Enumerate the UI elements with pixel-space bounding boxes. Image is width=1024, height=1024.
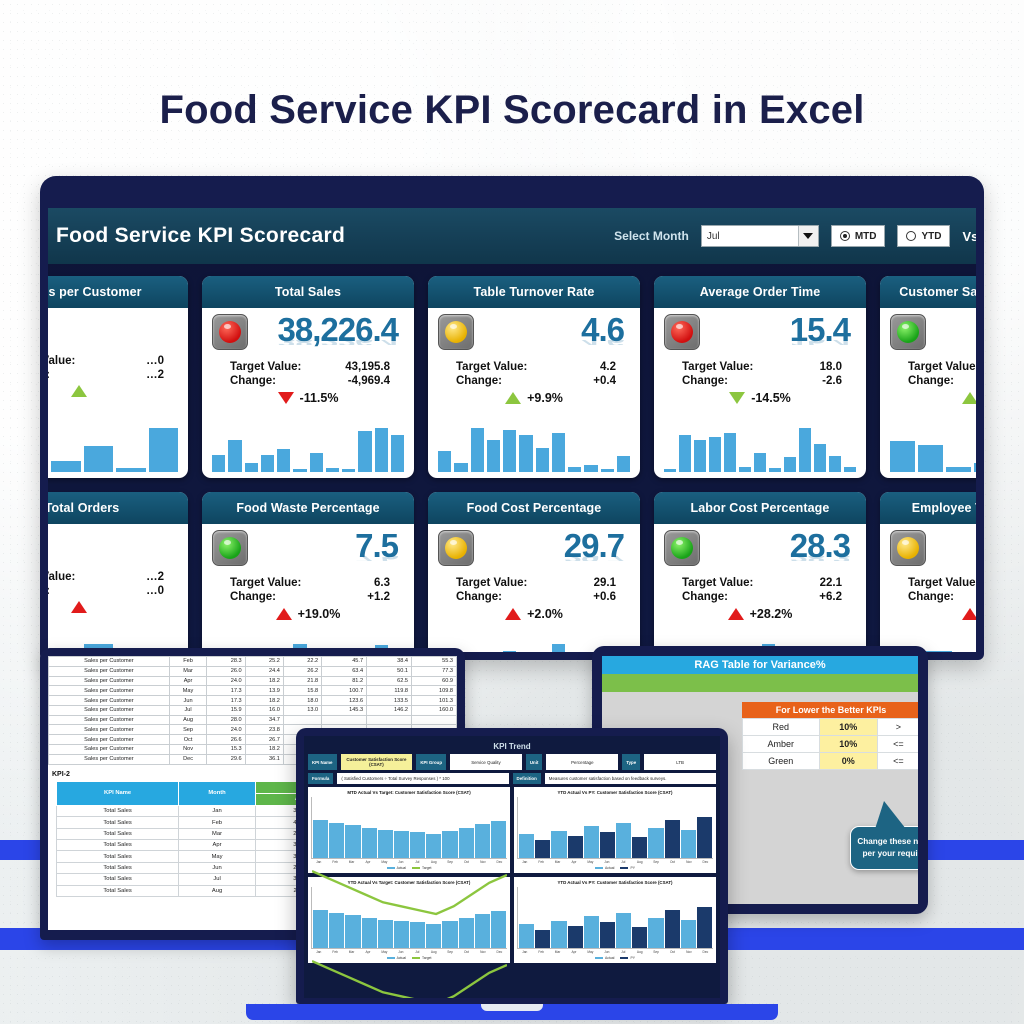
cell-c2: 26.7 — [245, 735, 283, 745]
cell-kpi: Sales per Customer — [49, 657, 170, 667]
radio-on-icon — [840, 231, 850, 241]
kpi-change-label: Change: — [456, 591, 502, 603]
kpi-value-reflection — [48, 525, 178, 530]
kpi-sparkline-chart — [890, 424, 976, 472]
cell-kpi: Sales per Customer — [49, 745, 170, 755]
kpi-card-title: Customer Satisfaction Score — [880, 276, 976, 308]
cell-c6: 160.0 — [412, 705, 457, 715]
cell-c2: 23.8 — [245, 725, 283, 735]
trend-chart-caption: YTD Actual Vs PY: Customer Satisfaction … — [517, 790, 713, 795]
cell-kpi: Sales per Customer — [49, 676, 170, 686]
table-row: Sales per Customer Mar 26.0 24.4 26.2 63… — [49, 666, 457, 676]
kpi-target-label: Target Value: — [456, 361, 527, 373]
legend-series-2: PY — [620, 956, 635, 960]
cell-c2: 25.2 — [245, 657, 283, 667]
kpi-target-row: Target Value: …2 — [48, 570, 178, 584]
kpi-card: Employee Turnover Rate 5. 5. Target Valu… — [880, 492, 976, 652]
kpi-delta-percent: +2.0% — [527, 607, 563, 621]
cell-month: Mar — [178, 828, 255, 839]
cell-c3: 21.8 — [283, 676, 321, 686]
kpi-card-body: Target Value: …2 Change: …0 — [48, 524, 188, 652]
field-value-unit: Percentage — [546, 754, 618, 770]
kpi-target-label: Target Value: — [682, 577, 753, 589]
kpi-target-label: Target Value: — [48, 355, 75, 367]
cell-kpi: Sales per Customer — [49, 715, 170, 725]
month-tick: Dec — [698, 860, 713, 864]
rag-band: Amber — [743, 736, 820, 753]
trend-down-arrow-icon — [278, 392, 294, 404]
cell-c3: 22.2 — [283, 657, 321, 667]
kpi-target-label: Target Value: — [908, 577, 976, 589]
rag-table-header: For Lower the Better KPIs — [742, 702, 918, 718]
legend-series-2: PY — [620, 866, 635, 870]
kpi-sparkline-chart — [438, 424, 630, 472]
kpi-card: Total Sales 38,226.4 38,226.4 Target Val… — [202, 276, 414, 478]
kpi-dashboard: Food Service KPI Scorecard Select Month … — [48, 208, 976, 652]
cell-c4: 145.3 — [322, 705, 367, 715]
kpi-value-reflection: 5. — [932, 556, 976, 561]
radio-off-icon — [906, 231, 916, 241]
cell-c2: 34.7 — [245, 715, 283, 725]
main-laptop-screen: Food Service KPI Scorecard Select Month … — [48, 208, 976, 652]
trend-up-arrow-icon — [71, 601, 87, 613]
cell-c3: 15.8 — [283, 686, 321, 696]
cell-c2: 18.2 — [245, 676, 283, 686]
kpi-sparkline-chart — [212, 424, 404, 472]
month-tick: Sep — [648, 860, 663, 864]
kpi-value-reflection: 7.5 — [254, 556, 404, 561]
table-row: Sales per Customer Jul 15.9 16.0 13.0 14… — [49, 705, 457, 715]
month-tick: Feb — [533, 950, 548, 954]
mtd-radio[interactable]: MTD — [831, 225, 886, 247]
cell-kpi-name: Total Sales — [57, 828, 179, 839]
cell-month: Jul — [169, 705, 207, 715]
cell-month: Oct — [169, 735, 207, 745]
cell-c1: 24.0 — [207, 676, 245, 686]
kpi-card-body: 15.4 15.4 Target Value: 18.0 Change: -2.… — [654, 308, 866, 478]
kpi-change-label: Change: — [48, 369, 50, 381]
trend-chart: YTD Actual Vs Target: Customer Satisfact… — [308, 877, 510, 963]
kpi-card-body: 28.3 28.3 Target Value: 22.1 Change: +6.… — [654, 524, 866, 652]
cell-c1: 17.3 — [207, 696, 245, 706]
kpi-field-row-1: KPI Name Customer Satisfaction Score (CS… — [308, 754, 716, 770]
kpi-target-row: Target Value: 43,195.8 — [212, 360, 404, 374]
cell-c2: 36.1 — [245, 754, 283, 764]
trend-up-arrow-icon — [71, 385, 87, 397]
kpi-target-value: 18.0 — [784, 361, 842, 373]
cell-month: Apr — [178, 840, 255, 851]
month-tick: Jul — [616, 950, 631, 954]
kpi-change-value: +6.2 — [784, 591, 842, 603]
cell-month: Aug — [178, 885, 255, 896]
legend-actual: Actual — [595, 866, 614, 870]
kpi-target-row: Target Value: — [890, 360, 976, 374]
kpi-card: Average Order Time 15.4 15.4 Target Valu… — [654, 276, 866, 478]
ytd-radio[interactable]: YTD — [897, 225, 950, 247]
month-tick: May — [583, 950, 598, 954]
cell-c1: 28.3 — [207, 657, 245, 667]
month-axis: JanFebMarAprMayJunJulAugSepOctNovDec — [517, 860, 713, 864]
cell-c5: 62.5 — [367, 676, 412, 686]
cell-month: Jan — [178, 805, 255, 816]
mtd-label: MTD — [855, 231, 877, 242]
kpi-target-value: 4.2 — [558, 361, 616, 373]
trend-plot-area — [517, 887, 713, 949]
cell-c6 — [412, 715, 457, 725]
main-laptop-frame: Food Service KPI Scorecard Select Month … — [40, 176, 984, 660]
cell-c4: 123.6 — [322, 696, 367, 706]
trend-up-arrow-icon — [962, 608, 976, 620]
kpi-card: Table Turnover Rate 4.6 4.6 Target Value… — [428, 276, 640, 478]
trend-up-arrow-icon — [962, 392, 976, 404]
center-laptop-screen: KPI Trend KPI Name Customer Satisfaction… — [304, 736, 720, 998]
trend-chart-grid: MTD Actual Vs Target: Customer Satisfact… — [308, 787, 716, 963]
callout-bubble: Change these number as per your requirem… — [850, 826, 918, 870]
kpi-delta-row — [48, 385, 178, 397]
kpi-change-value: +0.6 — [558, 591, 616, 603]
month-tick: Jan — [517, 860, 532, 864]
trend-plot-area — [311, 887, 507, 949]
center-laptop-base — [246, 1004, 778, 1020]
kpi-target-value: 43,195.8 — [332, 361, 390, 373]
kpi-target-value: 29.1 — [558, 577, 616, 589]
kpi-target-row: Target Value: — [890, 576, 976, 590]
cell-c4: 81.2 — [322, 676, 367, 686]
kpi-change-row: Change: +0.6 — [438, 590, 630, 604]
kpi-target-label: Target Value: — [48, 571, 75, 583]
kpi-value-reflection: 77 — [932, 340, 976, 345]
kpi-value-reflection: 38,226.4 — [254, 340, 404, 345]
kpi-card-title: Food Waste Percentage — [202, 492, 414, 524]
cell-c1: 26.6 — [207, 735, 245, 745]
cell-kpi: Sales per Customer — [49, 705, 170, 715]
month-tick: May — [583, 860, 598, 864]
month-tick: Feb — [533, 860, 548, 864]
cell-kpi: Sales per Customer — [49, 725, 170, 735]
trend-chart: MTD Actual Vs Target: Customer Satisfact… — [308, 787, 510, 873]
cell-kpi: Sales per Customer — [49, 686, 170, 696]
cell-month: Sep — [169, 725, 207, 735]
cell-c3: 18.0 — [283, 696, 321, 706]
trend-up-arrow-icon — [505, 608, 521, 620]
cell-month: Jun — [169, 696, 207, 706]
kpi-change-label: Change: — [456, 375, 502, 387]
table-row: Sales per Customer May 17.3 13.9 15.8 10… — [49, 686, 457, 696]
cell-c4: 63.4 — [322, 666, 367, 676]
kpi-sparkline-chart — [48, 424, 178, 472]
trend-up-arrow-icon — [505, 392, 521, 404]
cell-c4: 45.7 — [322, 657, 367, 667]
cell-month: Apr — [169, 676, 207, 686]
cell-c2: 16.0 — [245, 705, 283, 715]
month-select-value: Jul — [707, 231, 720, 242]
kpi-card-body: Target Value: …0 Change: …2 — [48, 308, 188, 478]
cell-c4 — [322, 715, 367, 725]
kpi-target-row: Target Value: 22.1 — [664, 576, 856, 590]
kpi-change-value: +0.4 — [558, 375, 616, 387]
cell-kpi-name: Total Sales — [57, 817, 179, 828]
kpi-card-title: Food Cost Percentage — [428, 492, 640, 524]
cell-c6: 101.3 — [412, 696, 457, 706]
trend-chart: YTD Actual Vs PY: Customer Satisfaction … — [514, 877, 716, 963]
cell-c5: 146.2 — [367, 705, 412, 715]
kpi-card: Food Cost Percentage 29.7 29.7 Target Va… — [428, 492, 640, 652]
month-tick: Apr — [566, 860, 581, 864]
month-tick: Oct — [665, 950, 680, 954]
cell-c6: 77.3 — [412, 666, 457, 676]
status-light-amber-icon — [438, 314, 474, 350]
kpi-target-label: Target Value: — [682, 361, 753, 373]
kpi-change-label: Change: — [230, 591, 276, 603]
cell-kpi-name: Total Sales — [57, 885, 179, 896]
kpi-card-body: 29.7 29.7 Target Value: 29.1 Change: +0.… — [428, 524, 640, 652]
month-tick: Dec — [698, 950, 713, 954]
kpi-delta-row: +2… — [890, 391, 976, 405]
cell-c5: 50.1 — [367, 666, 412, 676]
kpi-change-row: Change: — [890, 374, 976, 388]
status-light-amber-icon — [890, 530, 926, 566]
cell-kpi-name: Total Sales — [57, 840, 179, 851]
month-tick: Oct — [665, 860, 680, 864]
kpi-delta-row: +28.2% — [664, 607, 856, 621]
month-tick: Jan — [517, 950, 532, 954]
kpi-card-title: Sales per Customer — [48, 276, 188, 308]
kpi-change-row: Change: — [890, 590, 976, 604]
kpi-card: Labor Cost Percentage 28.3 28.3 Target V… — [654, 492, 866, 652]
cell-c5 — [367, 715, 412, 725]
cell-month: Mar — [169, 666, 207, 676]
kpi-change-row: Change: …2 — [48, 368, 178, 382]
rag-operator: <= — [877, 753, 918, 770]
field-value-definition: Measures customer satisfaction based on … — [545, 773, 716, 784]
cell-month: Jun — [178, 862, 255, 873]
rag-operator: <= — [877, 736, 918, 753]
kpi-delta-row: -11.5% — [212, 391, 404, 405]
cell-c1: 15.9 — [207, 705, 245, 715]
kpi-change-row: Change: +6.2 — [664, 590, 856, 604]
dashboard-controls: Select Month Jul MTD YTD Vs. — [614, 225, 976, 247]
cell-c1: 28.0 — [207, 715, 245, 725]
kpi-card-title: Table Turnover Rate — [428, 276, 640, 308]
month-tick: Jul — [616, 860, 631, 864]
kpi-change-row: Change: -4,969.4 — [212, 374, 404, 388]
cell-c1: 24.0 — [207, 725, 245, 735]
status-light-red-icon — [664, 314, 700, 350]
rag-row: Amber 10% <= — [743, 736, 919, 753]
kpi-target-row: Target Value: 6.3 — [212, 576, 404, 590]
rag-threshold[interactable]: 0% — [819, 753, 877, 770]
trend-down-arrow-icon — [729, 392, 745, 404]
cell-month: Jul — [178, 874, 255, 885]
kpi-change-value: +1.2 — [332, 591, 390, 603]
cell-month: Nov — [169, 745, 207, 755]
chart-legend: Actual PY — [517, 956, 713, 960]
field-label-kpi-group: KPI Group — [416, 754, 446, 770]
cell-c2: 24.4 — [245, 666, 283, 676]
kpi-target-row: Target Value: 18.0 — [664, 360, 856, 374]
kpi-change-value: -2.6 — [784, 375, 842, 387]
kpi-delta-percent: +19.0% — [298, 607, 341, 621]
kpi-change-value: …0 — [106, 585, 164, 597]
kpi-change-row: Change: +1.2 — [212, 590, 404, 604]
kpi-target-row: Target Value: …0 — [48, 354, 178, 368]
month-select-dropdown[interactable]: Jul — [701, 225, 819, 247]
kpi-change-label: Change: — [682, 591, 728, 603]
kpi-change-label: Change: — [48, 585, 50, 597]
status-light-amber-icon — [438, 530, 474, 566]
cell-month: May — [169, 686, 207, 696]
kpi-card-title: Total Sales — [202, 276, 414, 308]
cell-c1: 17.3 — [207, 686, 245, 696]
cell-c5: 119.8 — [367, 686, 412, 696]
rag-threshold[interactable]: 10% — [819, 719, 877, 736]
kpi-card-body: 77 77 Target Value: Change: +2… — [880, 308, 976, 478]
rag-table-title: RAG Table for Variance% — [602, 656, 918, 674]
cell-c4: 100.7 — [322, 686, 367, 696]
trend-plot-area — [517, 797, 713, 859]
rag-threshold[interactable]: 10% — [819, 736, 877, 753]
cell-c1: 15.3 — [207, 745, 245, 755]
status-light-green-icon — [664, 530, 700, 566]
kpi-delta-row: +7… — [890, 607, 976, 621]
table-row: Sales per Customer Apr 24.0 18.2 21.8 81… — [49, 676, 457, 686]
rag-band: Red — [743, 719, 820, 736]
cell-kpi-name: Total Sales — [57, 851, 179, 862]
field-value-kpi-group: Service Quality — [450, 754, 522, 770]
field-label-definition: Definition — [513, 773, 541, 784]
kpi-delta-row — [48, 601, 178, 613]
trend-chart-caption: YTD Actual Vs PY: Customer Satisfaction … — [517, 880, 713, 885]
field-label-type: Type — [622, 754, 640, 770]
cell-c6: 109.8 — [412, 686, 457, 696]
cell-kpi: Sales per Customer — [49, 666, 170, 676]
kpi-field-row-2: Formula ( Satisfied Customers ÷ Total Su… — [308, 773, 716, 784]
month-tick: Nov — [681, 950, 696, 954]
kpi-card: Sales per Customer Target Value: …0 Chan… — [48, 276, 188, 478]
vs-label: Vs. — [962, 229, 976, 244]
cell-kpi-name: Total Sales — [57, 805, 179, 816]
kpi-card: Total Orders Target Value: …2 Change: …0 — [48, 492, 188, 652]
cell-c2: 18.2 — [245, 745, 283, 755]
rag-operator: > — [877, 719, 918, 736]
kpi-target-label: Target Value: — [456, 577, 527, 589]
cell-kpi-name: Total Sales — [57, 862, 179, 873]
trend-chart-caption: MTD Actual Vs Target: Customer Satisfact… — [311, 790, 507, 795]
month-tick: Jun — [599, 860, 614, 864]
col-kpi-name: KPI Name — [57, 781, 179, 805]
cell-c6: 60.9 — [412, 676, 457, 686]
trend-plot-area — [311, 797, 507, 859]
month-tick: Jun — [599, 950, 614, 954]
cell-c3 — [283, 715, 321, 725]
cell-month: Feb — [178, 817, 255, 828]
cell-month: Dec — [169, 754, 207, 764]
kpi-change-label: Change: — [908, 375, 954, 387]
dashboard-header: Food Service KPI Scorecard Select Month … — [48, 208, 976, 264]
kpi-value-reflection: 29.7 — [480, 556, 630, 561]
month-tick: Mar — [550, 950, 565, 954]
kpi-delta-percent: -14.5% — [751, 391, 791, 405]
kpi-target-label: Target Value: — [908, 361, 976, 373]
rag-row: Green 0% <= — [743, 753, 919, 770]
cell-c5: 38.4 — [367, 657, 412, 667]
kpi-card-body: 5. 5. Target Value: Change: +7… — [880, 524, 976, 652]
field-label-formula: Formula — [308, 773, 333, 784]
kpi-change-row: Change: -2.6 — [664, 374, 856, 388]
field-value-formula: ( Satisfied Customers ÷ Total Survey Res… — [337, 773, 508, 784]
kpi-card-grid: Sales per Customer Target Value: …0 Chan… — [48, 264, 976, 652]
cell-kpi-name: Total Sales — [57, 874, 179, 885]
cell-kpi: Sales per Customer — [49, 754, 170, 764]
cell-c2: 18.2 — [245, 696, 283, 706]
field-label-kpi-name: KPI Name — [308, 754, 337, 770]
kpi-value-reflection — [48, 309, 178, 314]
field-value-type: LTB — [644, 754, 716, 770]
kpi-change-value: …2 — [106, 369, 164, 381]
table-row: Sales per Customer Aug 28.0 34.7 — [49, 715, 457, 725]
month-axis: JanFebMarAprMayJunJulAugSepOctNovDec — [517, 950, 713, 954]
cell-c3: 13.0 — [283, 705, 321, 715]
kpi-card-title: Labor Cost Percentage — [654, 492, 866, 524]
kpi-target-value: …2 — [106, 571, 164, 583]
cell-month: May — [178, 851, 255, 862]
chevron-down-icon[interactable] — [798, 226, 818, 246]
trend-chart: YTD Actual Vs PY: Customer Satisfaction … — [514, 787, 716, 873]
kpi-change-row: Change: +0.4 — [438, 374, 630, 388]
rag-subheader-strip — [602, 674, 918, 692]
kpi-target-row: Target Value: 4.2 — [438, 360, 630, 374]
ytd-label: YTD — [921, 231, 941, 242]
cell-c5: 133.5 — [367, 696, 412, 706]
legend-actual: Actual — [595, 956, 614, 960]
select-month-label: Select Month — [614, 229, 689, 243]
chart-legend: Actual PY — [517, 866, 713, 870]
kpi-card-body: 38,226.4 38,226.4 Target Value: 43,195.8… — [202, 308, 414, 478]
page-title: Food Service KPI Scorecard in Excel — [0, 88, 1024, 133]
kpi-value-reflection: 15.4 — [706, 340, 856, 345]
kpi-target-value: …0 — [106, 355, 164, 367]
kpi-value-reflection: 28.3 — [706, 556, 856, 561]
kpi-change-label: Change: — [230, 375, 276, 387]
col-month: Month — [178, 781, 255, 805]
table-row: Sales per Customer Feb 28.3 25.2 22.2 45… — [49, 657, 457, 667]
kpi-target-label: Target Value: — [230, 361, 301, 373]
rag-band: Green — [743, 753, 820, 770]
cell-c1: 29.6 — [207, 754, 245, 764]
kpi-card: Customer Satisfaction Score 77 77 Target… — [880, 276, 976, 478]
cell-c1: 26.0 — [207, 666, 245, 676]
kpi-card: Food Waste Percentage 7.5 7.5 Target Val… — [202, 492, 414, 652]
kpi-change-label: Change: — [908, 591, 954, 603]
rag-row: Red 10% > — [743, 719, 919, 736]
status-light-red-icon — [212, 314, 248, 350]
cell-c2: 13.9 — [245, 686, 283, 696]
trend-up-arrow-icon — [728, 608, 744, 620]
kpi-change-label: Change: — [682, 375, 728, 387]
kpi-change-row: Change: …0 — [48, 584, 178, 598]
cell-c3: 26.2 — [283, 666, 321, 676]
kpi-delta-percent: -11.5% — [300, 391, 339, 405]
rag-table: For Lower the Better KPIs Red 10% >Amber… — [742, 702, 918, 770]
cell-c6: 55.3 — [412, 657, 457, 667]
cell-kpi: Sales per Customer — [49, 696, 170, 706]
kpi-delta-row: +9.9% — [438, 391, 630, 405]
trend-up-arrow-icon — [276, 608, 292, 620]
kpi-delta-percent: +9.9% — [527, 391, 563, 405]
cell-month: Aug — [169, 715, 207, 725]
kpi-target-row: Target Value: 29.1 — [438, 576, 630, 590]
kpi-card-title: Total Orders — [48, 492, 188, 524]
